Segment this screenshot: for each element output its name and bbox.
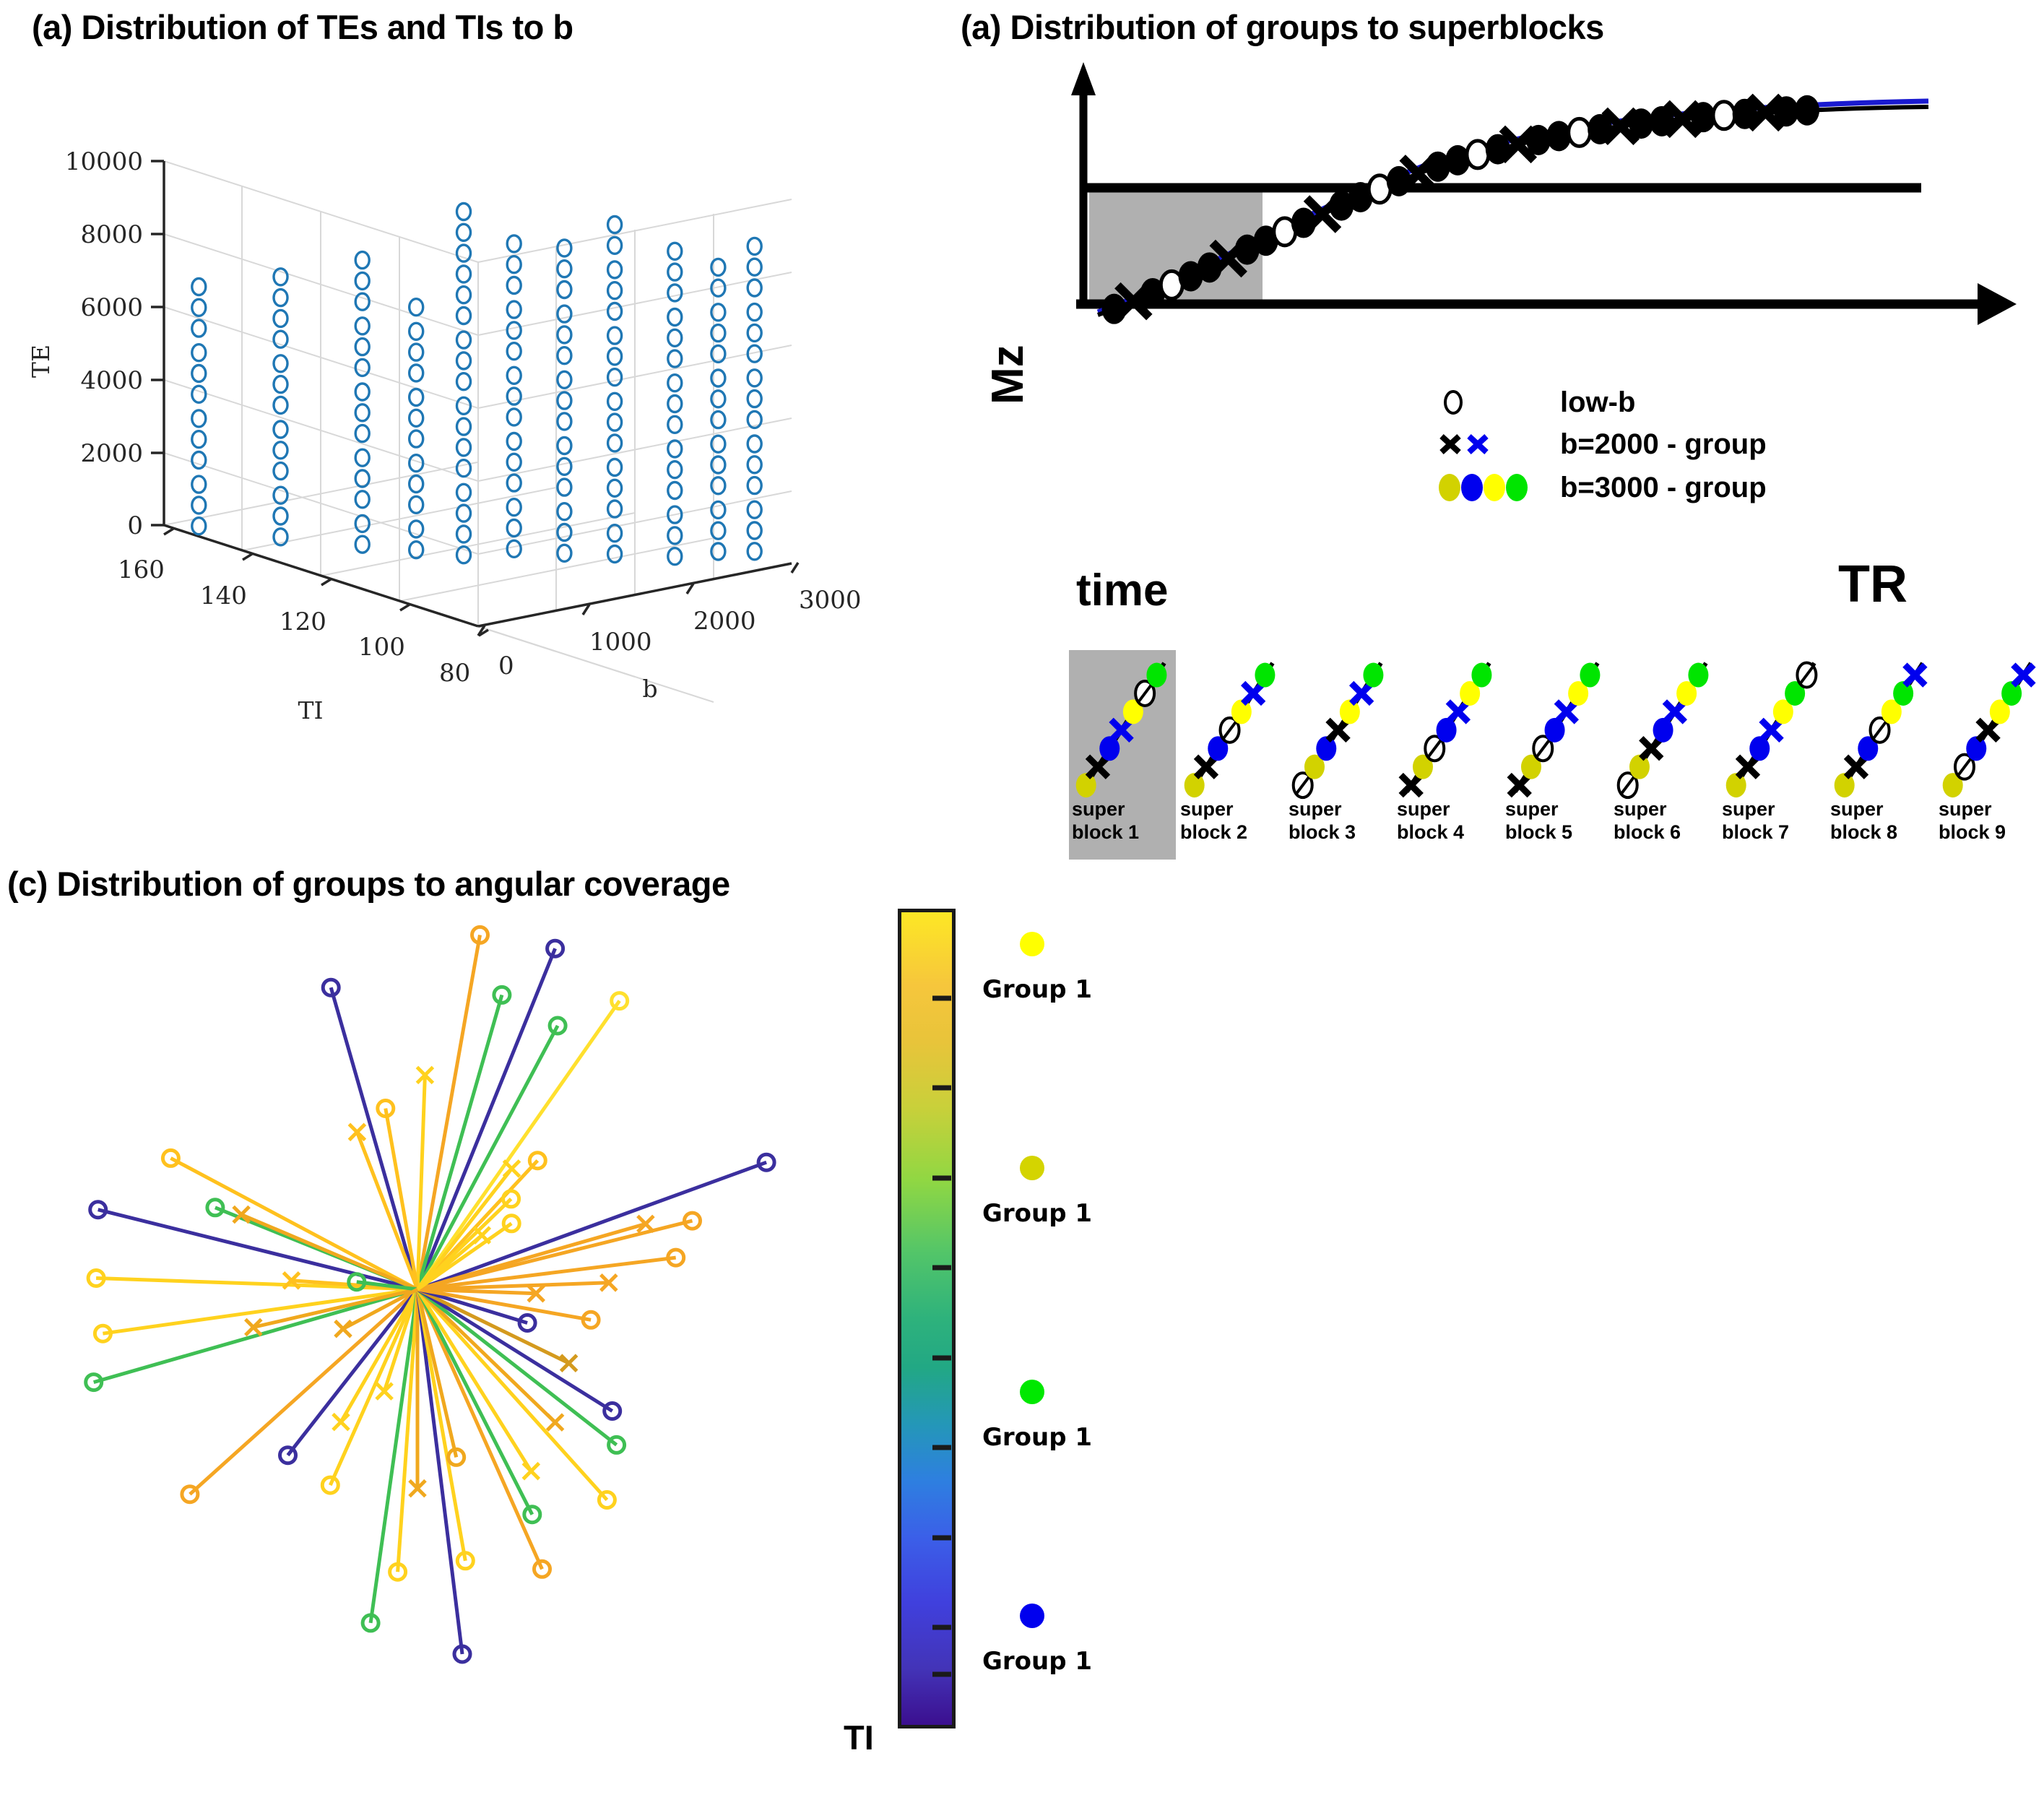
axis-label-b: b bbox=[642, 675, 657, 703]
superblock-dot bbox=[1749, 736, 1770, 761]
superblock-x-blue bbox=[1351, 683, 1372, 704]
scatter-point bbox=[192, 279, 206, 295]
scatter-point bbox=[558, 282, 571, 298]
superblock-x-blue bbox=[1448, 701, 1468, 722]
scatter-point bbox=[608, 393, 622, 410]
scatter-point bbox=[355, 536, 369, 553]
scatter-point bbox=[192, 452, 206, 469]
scatter-point bbox=[507, 277, 521, 294]
scatter-point bbox=[457, 352, 471, 369]
axis-ticks bbox=[151, 161, 798, 636]
scatter-point bbox=[355, 339, 369, 355]
scatter-point bbox=[668, 285, 682, 301]
superblock-dot bbox=[1580, 663, 1600, 688]
superblock-dot bbox=[1545, 718, 1565, 743]
superblock-row: superblock 1superblock 2superblock 3supe… bbox=[1069, 650, 2044, 860]
scatter-point bbox=[355, 293, 369, 310]
superblock-x-blue bbox=[1665, 701, 1685, 722]
mz-marker-open-circle bbox=[1569, 118, 1590, 146]
scatter-point bbox=[507, 388, 521, 404]
scatter-point bbox=[608, 261, 622, 278]
legend-label-low-b: low-b bbox=[1560, 386, 1635, 419]
scatter-point bbox=[668, 243, 682, 259]
scatter-point bbox=[608, 435, 622, 451]
y-tick-2: 2000 bbox=[693, 607, 756, 636]
superblock-dot bbox=[1966, 736, 1986, 761]
superblock-x-black bbox=[1088, 757, 1108, 777]
scatter-point bbox=[192, 386, 206, 402]
spoke-endpoint-x bbox=[561, 1355, 577, 1371]
angular-spoke bbox=[417, 1162, 766, 1289]
superblock-x-black bbox=[1196, 757, 1216, 777]
scatter-point bbox=[192, 299, 206, 316]
spoke-endpoint-x bbox=[474, 1227, 490, 1243]
scatter-point bbox=[192, 410, 206, 427]
superblock-label-line1: super bbox=[1072, 798, 1176, 821]
superblock-label-line2: block 1 bbox=[1072, 821, 1176, 844]
group-label: Group 1 bbox=[982, 1647, 1092, 1676]
superblock-label: superblock 2 bbox=[1180, 798, 1284, 844]
x-tick-4: 80 bbox=[439, 659, 470, 688]
scatter-point bbox=[507, 235, 521, 252]
group-color-dot bbox=[1020, 932, 1044, 956]
scatter-point bbox=[410, 344, 423, 360]
panel-b-title: (a) Distribution of groups to superblock… bbox=[961, 7, 1604, 47]
scatter-point bbox=[558, 347, 571, 364]
superblock-sequence-icon bbox=[1827, 650, 1934, 798]
scatter-point bbox=[558, 479, 571, 496]
scatter-point bbox=[507, 256, 521, 273]
scatter-point bbox=[748, 522, 761, 539]
scatter-point bbox=[192, 320, 206, 337]
panel-c-group-legend: Group 1Group 1Group 1Group 1 bbox=[961, 932, 1322, 1813]
scatter-point bbox=[558, 458, 571, 475]
superblock-x-black bbox=[1846, 757, 1866, 777]
scatter-point bbox=[748, 238, 761, 254]
scatter-point bbox=[748, 370, 761, 386]
scatter-point bbox=[558, 545, 571, 561]
superblock-dot bbox=[1076, 773, 1096, 797]
superblock-dot bbox=[2001, 681, 2022, 706]
superblock-label-line1: super bbox=[1830, 798, 1934, 821]
angular-spoke bbox=[331, 987, 417, 1289]
angular-spoke bbox=[94, 1289, 417, 1383]
superblock-label: superblock 8 bbox=[1830, 798, 1934, 844]
superblock-item[interactable]: superblock 1 bbox=[1069, 650, 1176, 860]
scatter-point bbox=[558, 371, 571, 388]
panel-a-chart: 10000 8000 6000 4000 2000 0 160 140 120 … bbox=[0, 72, 946, 838]
superblock-dot bbox=[1231, 699, 1252, 724]
scatter-point bbox=[558, 240, 571, 256]
scatter-point bbox=[274, 442, 287, 459]
scatter-point bbox=[192, 518, 206, 535]
group-label: Group 1 bbox=[982, 1199, 1092, 1228]
spoke-endpoint-x bbox=[523, 1463, 539, 1479]
superblock-dot bbox=[1653, 718, 1673, 743]
scatter-point bbox=[355, 252, 369, 269]
tr-axis-label: TR bbox=[1838, 555, 1907, 614]
spoke-endpoint-x bbox=[349, 1124, 365, 1140]
group-color-dot bbox=[1020, 1604, 1044, 1628]
superblock-item[interactable]: superblock 5 bbox=[1502, 650, 1609, 860]
superblock-item[interactable]: superblock 8 bbox=[1827, 650, 1934, 860]
scatter-point bbox=[558, 413, 571, 430]
scatter-point bbox=[355, 515, 369, 532]
scatter-point bbox=[668, 416, 682, 433]
scatter-point bbox=[748, 436, 761, 452]
scatter-point bbox=[748, 501, 761, 518]
panel-c-chart bbox=[43, 896, 896, 1806]
colorbar-ticks bbox=[927, 909, 956, 1721]
scatter-point bbox=[558, 261, 571, 277]
superblock-x-black bbox=[1738, 757, 1758, 777]
scatter-point bbox=[410, 410, 423, 426]
scatter-point bbox=[507, 322, 521, 339]
scatter-point bbox=[507, 499, 521, 516]
scatter-point bbox=[558, 392, 571, 409]
superblock-label-line2: block 8 bbox=[1830, 821, 1934, 844]
scatter-point bbox=[668, 329, 682, 346]
spoke-endpoint-circle bbox=[529, 1153, 545, 1169]
scatter-point bbox=[748, 259, 761, 275]
scatter-point bbox=[355, 384, 369, 400]
z-tick-labels: 10000 8000 6000 4000 2000 0 bbox=[65, 147, 143, 540]
superblock-sequence-icon bbox=[1719, 650, 1826, 798]
superblock-x-black bbox=[1401, 775, 1421, 795]
panel-a-title: (a) Distribution of TEs and TIs to b bbox=[32, 7, 573, 47]
scatter-point bbox=[507, 343, 521, 360]
scatter-point bbox=[668, 375, 682, 391]
superblock-dot bbox=[1471, 663, 1491, 688]
superblock-dot bbox=[1316, 736, 1336, 761]
y-tick-0: 0 bbox=[498, 652, 514, 680]
superblock-dot bbox=[1726, 773, 1746, 797]
superblock-label-line1: super bbox=[1397, 798, 1501, 821]
superblock-dot bbox=[1835, 773, 1855, 797]
scatter-point bbox=[608, 327, 622, 344]
scatter-point bbox=[558, 306, 571, 322]
superblock-item[interactable]: superblock 2 bbox=[1177, 650, 1284, 860]
z-tick-2: 6000 bbox=[80, 293, 143, 322]
x-tick-0: 160 bbox=[118, 555, 165, 584]
angular-spoke bbox=[417, 1289, 607, 1500]
scatter-point bbox=[355, 318, 369, 334]
group-label: Group 1 bbox=[982, 1423, 1092, 1452]
scatter-point bbox=[355, 425, 369, 442]
scatter-point bbox=[457, 245, 471, 261]
scatter-point bbox=[410, 542, 423, 558]
superblock-item[interactable]: superblock 4 bbox=[1394, 650, 1501, 860]
scatter-point bbox=[608, 501, 622, 517]
angular-spoke bbox=[417, 1026, 558, 1289]
superblock-x-black bbox=[1328, 720, 1348, 740]
legend-label-b3000: b=3000 - group bbox=[1560, 472, 1767, 504]
scatter-point bbox=[558, 326, 571, 343]
superblock-x-blue bbox=[1112, 720, 1132, 740]
spoke-endpoint-circle bbox=[534, 1561, 550, 1577]
superblock-x-blue bbox=[2013, 665, 2033, 685]
scatter-point bbox=[410, 476, 423, 493]
superblock-x-black bbox=[1510, 775, 1530, 795]
z-tick-1: 8000 bbox=[80, 220, 143, 249]
superblock-x-blue bbox=[1556, 701, 1577, 722]
superblock-label-line2: block 3 bbox=[1289, 821, 1393, 844]
superblock-label-line1: super bbox=[1722, 798, 1826, 821]
scatter-point bbox=[507, 409, 521, 425]
scatter-point bbox=[457, 397, 471, 414]
mz-axis-label: Mz bbox=[982, 345, 1034, 404]
scatter-point bbox=[457, 460, 471, 477]
superblock-sequence-icon bbox=[1936, 650, 2043, 798]
superblock-label-line1: super bbox=[1289, 798, 1393, 821]
scatter-point bbox=[608, 348, 622, 365]
superblock-dot bbox=[1363, 663, 1383, 688]
superblock-dot bbox=[1437, 718, 1457, 743]
scatter-point bbox=[748, 304, 761, 321]
superblock-dot bbox=[1893, 681, 1913, 706]
scatter-point bbox=[507, 433, 521, 450]
scatter-point bbox=[410, 496, 423, 513]
legend-icon-b3000 bbox=[1437, 470, 1560, 505]
x-tick-3: 100 bbox=[358, 633, 405, 662]
superblock-dot bbox=[1146, 663, 1166, 688]
scatter-point bbox=[355, 470, 369, 487]
superblock-x-blue bbox=[1243, 683, 1263, 704]
superblock-x-black bbox=[1641, 738, 1661, 758]
scatter-point bbox=[410, 389, 423, 406]
mz-marker-open-circle bbox=[1713, 102, 1735, 129]
scatter-point bbox=[668, 396, 682, 412]
angular-spoke bbox=[417, 1289, 462, 1654]
scatter-point bbox=[608, 480, 622, 496]
superblock-dot bbox=[1255, 663, 1275, 688]
scatter-point bbox=[608, 217, 622, 233]
scatter-point bbox=[507, 301, 521, 318]
spoke-endpoint-circle bbox=[612, 993, 628, 1009]
panel-b-legend: low-b b=2000 - group b=3000 - group bbox=[1437, 381, 1900, 510]
legend-label-b2000: b=2000 - group bbox=[1560, 428, 1767, 461]
group-label: Group 1 bbox=[982, 975, 1092, 1004]
scatter-point bbox=[457, 505, 471, 522]
superblock-label: superblock 5 bbox=[1505, 798, 1609, 844]
scatter-point bbox=[608, 525, 622, 542]
superblock-dot bbox=[1629, 755, 1650, 779]
group-color-dot bbox=[1020, 1156, 1044, 1180]
superblock-label: superblock 6 bbox=[1614, 798, 1718, 844]
scatter-point bbox=[355, 449, 369, 466]
scatter-point bbox=[192, 365, 206, 382]
scatter-point bbox=[558, 438, 571, 454]
superblock-open-circle bbox=[1797, 663, 1816, 688]
scatter-point bbox=[668, 483, 682, 499]
superblock-label: superblock 9 bbox=[1939, 798, 2043, 844]
scatter-point bbox=[748, 543, 761, 560]
superblock-label-line1: super bbox=[1505, 798, 1609, 821]
superblock-label-line1: super bbox=[1939, 798, 2043, 821]
scatter-point bbox=[457, 418, 471, 435]
scatter-point bbox=[457, 204, 471, 220]
superblock-label-line1: super bbox=[1180, 798, 1284, 821]
x-tick-1: 140 bbox=[200, 581, 247, 610]
superblock-sequence-icon bbox=[1502, 650, 1609, 798]
scatter-point bbox=[355, 272, 369, 289]
scatter-point bbox=[668, 527, 682, 544]
scatter-point bbox=[457, 308, 471, 324]
scatter-point bbox=[410, 299, 423, 316]
superblock-label-line2: block 9 bbox=[1939, 821, 2043, 844]
legend-icon-low-b bbox=[1437, 386, 1560, 418]
superblock-x-blue bbox=[1905, 665, 1925, 685]
superblock-dot bbox=[1688, 663, 1708, 688]
scatter-point bbox=[668, 462, 682, 478]
superblock-dot bbox=[1099, 736, 1120, 761]
scatter-point bbox=[355, 491, 369, 508]
scatter-point bbox=[410, 430, 423, 447]
superblock-sequence-icon bbox=[1069, 650, 1176, 798]
scatter-point bbox=[507, 367, 521, 384]
scatter-point bbox=[668, 350, 682, 367]
superblock-label-line2: block 2 bbox=[1180, 821, 1284, 844]
scatter-point bbox=[355, 404, 369, 421]
superblock-sequence-icon bbox=[1286, 650, 1393, 798]
group-color-dot bbox=[1020, 1380, 1044, 1404]
superblock-label: superblock 1 bbox=[1072, 798, 1176, 844]
spoke-endpoint-circle bbox=[758, 1154, 774, 1170]
angular-spoke bbox=[398, 1289, 417, 1572]
spoke-endpoint-circle bbox=[322, 1477, 338, 1493]
scatter-point bbox=[608, 303, 622, 320]
spoke-endpoint-x bbox=[504, 1161, 520, 1177]
scatter-point bbox=[457, 484, 471, 501]
superblock-label: superblock 3 bbox=[1289, 798, 1393, 844]
superblock-dot bbox=[1185, 773, 1205, 797]
superblock-item[interactable]: superblock 7 bbox=[1719, 650, 1826, 860]
superblock-label-line2: block 7 bbox=[1722, 821, 1826, 844]
spoke-endpoint-x bbox=[547, 1414, 563, 1430]
scatter-point bbox=[507, 540, 521, 557]
z-tick-0: 10000 bbox=[65, 147, 143, 176]
time-axis-label: time bbox=[1076, 565, 1168, 616]
superblock-label-line1: super bbox=[1614, 798, 1718, 821]
scatter-point bbox=[355, 359, 369, 376]
axis-label-ti: TI bbox=[298, 696, 323, 724]
y-tick-labels: 0 1000 2000 3000 bbox=[498, 586, 862, 680]
mz-marker-open-circle bbox=[1467, 141, 1489, 168]
superblock-label-line2: block 5 bbox=[1505, 821, 1609, 844]
scatter-point bbox=[192, 345, 206, 361]
y-tick-1: 1000 bbox=[589, 628, 652, 657]
superblock-item[interactable]: superblock 9 bbox=[1936, 650, 2043, 860]
scatter-point bbox=[668, 309, 682, 326]
scatter-point bbox=[608, 414, 622, 430]
spoke-endpoint-x bbox=[335, 1321, 351, 1337]
scatter-point bbox=[274, 508, 287, 524]
spoke-endpoint-circle bbox=[547, 940, 563, 956]
scatter-point bbox=[748, 457, 761, 473]
scatter-point bbox=[748, 391, 761, 407]
scatter-point bbox=[748, 477, 761, 494]
scatter-point bbox=[507, 520, 521, 537]
scatter-point bbox=[608, 546, 622, 563]
scatter-point bbox=[274, 290, 287, 306]
legend-icon-b2000 bbox=[1437, 428, 1560, 460]
scatter-point bbox=[410, 323, 423, 339]
superblock-label: superblock 7 bbox=[1722, 798, 1826, 844]
scatter-point bbox=[274, 397, 287, 413]
superblock-sequence-icon bbox=[1394, 650, 1501, 798]
scatter-point bbox=[457, 373, 471, 390]
superblock-label-line2: block 4 bbox=[1397, 821, 1501, 844]
y-tick-3: 3000 bbox=[799, 586, 862, 615]
scatter-point bbox=[457, 439, 471, 456]
superblock-x-black bbox=[1978, 720, 1998, 740]
scatter-point bbox=[274, 463, 287, 480]
scatter-point bbox=[457, 266, 471, 282]
scatter-point bbox=[410, 521, 423, 537]
superblock-dot bbox=[1340, 699, 1360, 724]
scatter-point bbox=[608, 369, 622, 386]
axis-label-te: TE bbox=[27, 345, 55, 378]
scatter-point bbox=[274, 421, 287, 438]
scatter-point bbox=[608, 282, 622, 299]
scatter-point bbox=[507, 454, 521, 470]
superblock-x-blue bbox=[1762, 720, 1782, 740]
superblock-sequence-icon bbox=[1177, 650, 1284, 798]
superblock-label: superblock 4 bbox=[1397, 798, 1501, 844]
scatter-point bbox=[558, 503, 571, 520]
z-tick-3: 4000 bbox=[80, 366, 143, 395]
scatter-point bbox=[608, 459, 622, 476]
scatter-point bbox=[457, 332, 471, 348]
scatter-point bbox=[410, 365, 423, 381]
scatter-point bbox=[192, 476, 206, 493]
scatter-point bbox=[457, 224, 471, 241]
superblock-item[interactable]: superblock 3 bbox=[1286, 650, 1393, 860]
scatter-point bbox=[192, 497, 206, 514]
superblock-label-line2: block 6 bbox=[1614, 821, 1718, 844]
scatter-point bbox=[457, 526, 471, 542]
x-tick-2: 120 bbox=[280, 607, 326, 636]
mz-marker-filled-circle bbox=[1795, 95, 1819, 126]
scatter-point bbox=[608, 237, 622, 254]
colorbar-label-ti: TI bbox=[844, 1718, 874, 1757]
scatter-markers bbox=[192, 204, 761, 565]
scatter-point bbox=[668, 264, 682, 280]
scatter-point bbox=[192, 431, 206, 448]
z-tick-4: 2000 bbox=[80, 439, 143, 468]
x-tick-labels: 160 140 120 100 80 bbox=[118, 555, 470, 688]
scatter-point bbox=[274, 355, 287, 372]
scatter-point bbox=[274, 376, 287, 393]
spoke-endpoint-x bbox=[333, 1414, 349, 1430]
scatter-point bbox=[668, 441, 682, 457]
angular-spoke bbox=[170, 1158, 417, 1289]
superblock-sequence-icon bbox=[1611, 650, 1718, 798]
scatter-point bbox=[748, 324, 761, 341]
scatter-point bbox=[668, 548, 682, 565]
scatter-point bbox=[507, 475, 521, 491]
scatter-point bbox=[748, 280, 761, 296]
scatter-point bbox=[274, 310, 287, 326]
scatter-point bbox=[457, 287, 471, 303]
superblock-item[interactable]: superblock 6 bbox=[1611, 650, 1718, 860]
z-tick-5: 0 bbox=[127, 511, 143, 540]
